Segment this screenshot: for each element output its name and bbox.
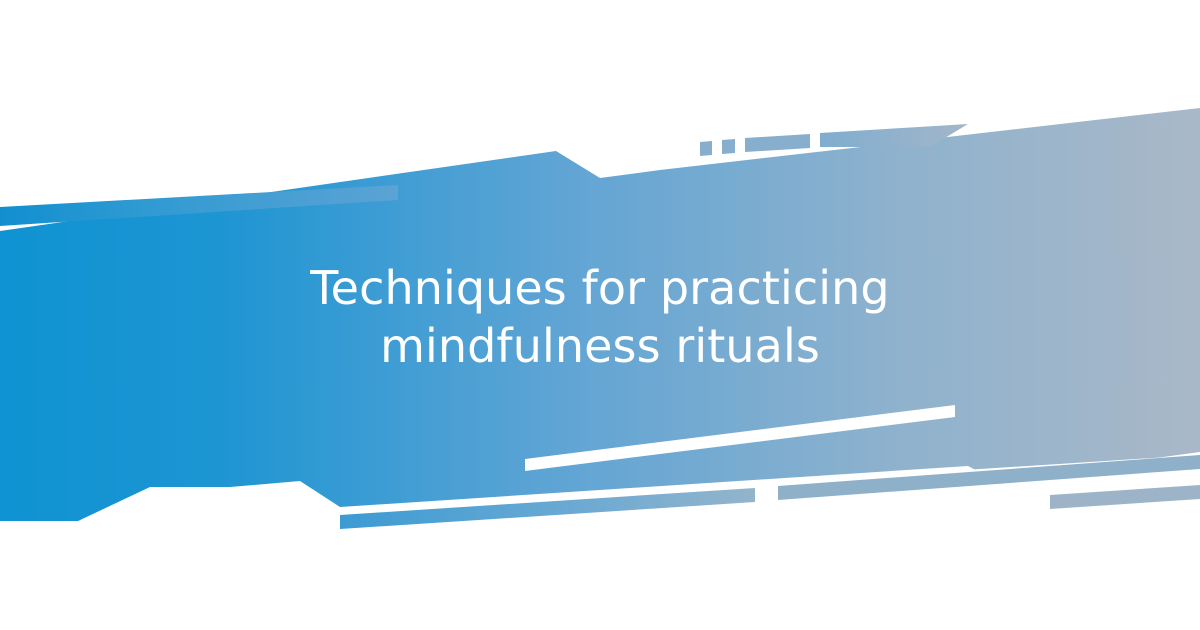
banner-card: Techniques for practicing mindfulness ri… xyxy=(0,0,1200,630)
page-title: Techniques for practicing mindfulness ri… xyxy=(270,255,930,376)
title-layer: Techniques for practicing mindfulness ri… xyxy=(0,0,1200,630)
